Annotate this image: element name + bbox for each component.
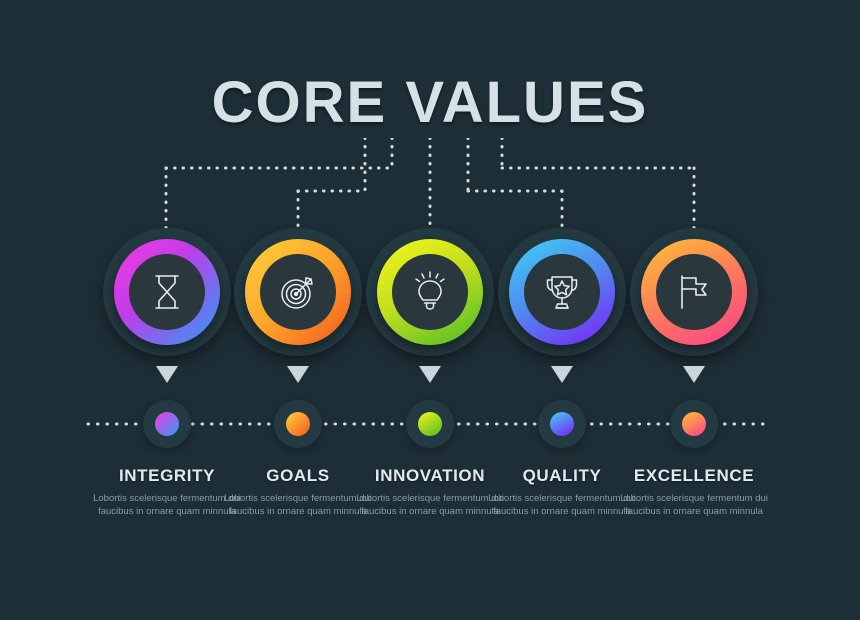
arrow-row: [0, 366, 860, 390]
circle-gradient-ring: [245, 239, 351, 345]
rail-dot-integrity[interactable]: [143, 400, 191, 448]
infographic-canvas: CORE VALUES: [0, 0, 860, 620]
circle-gradient-ring: [509, 239, 615, 345]
trophy-star-icon: [540, 270, 584, 314]
down-arrow-integrity: [156, 366, 178, 383]
down-arrow-goals: [287, 366, 309, 383]
value-circle-integrity[interactable]: [103, 228, 231, 356]
rail-dot-excellence[interactable]: [670, 400, 718, 448]
dot-gradient: [286, 412, 310, 436]
value-circle-excellence[interactable]: [630, 228, 758, 356]
circle-inner-disc: [129, 254, 205, 330]
dot-gradient: [155, 412, 179, 436]
circle-gradient-ring: [377, 239, 483, 345]
down-arrow-innovation: [419, 366, 441, 383]
value-circle-goals[interactable]: [234, 228, 362, 356]
circle-gradient-ring: [114, 239, 220, 345]
dot-gradient: [418, 412, 442, 436]
rail-dot-innovation[interactable]: [406, 400, 454, 448]
down-arrow-quality: [551, 366, 573, 383]
rail-dot-quality[interactable]: [538, 400, 586, 448]
circle-inner-disc: [524, 254, 600, 330]
circle-inner-disc: [392, 254, 468, 330]
rail-dot-goals[interactable]: [274, 400, 322, 448]
hourglass-icon: [145, 270, 189, 314]
caption-body: Lobortis scelerisque fermentum dui fauci…: [614, 493, 774, 518]
flag-icon: [672, 270, 716, 314]
captions-row: INTEGRITY Lobortis scelerisque fermentum…: [0, 466, 860, 556]
caption-title: EXCELLENCE: [614, 466, 774, 486]
dot-rail: [0, 400, 860, 450]
circle-inner-disc: [656, 254, 732, 330]
lightbulb-icon: [408, 270, 452, 314]
target-arrow-icon: [276, 270, 320, 314]
value-circles-row: [0, 228, 860, 358]
down-arrow-excellence: [683, 366, 705, 383]
circle-inner-disc: [260, 254, 336, 330]
caption-excellence: EXCELLENCE Lobortis scelerisque fermentu…: [614, 466, 774, 518]
circle-gradient-ring: [641, 239, 747, 345]
value-circle-quality[interactable]: [498, 228, 626, 356]
page-title: CORE VALUES: [0, 72, 860, 134]
value-circle-innovation[interactable]: [366, 228, 494, 356]
dot-gradient: [550, 412, 574, 436]
dot-gradient: [682, 412, 706, 436]
